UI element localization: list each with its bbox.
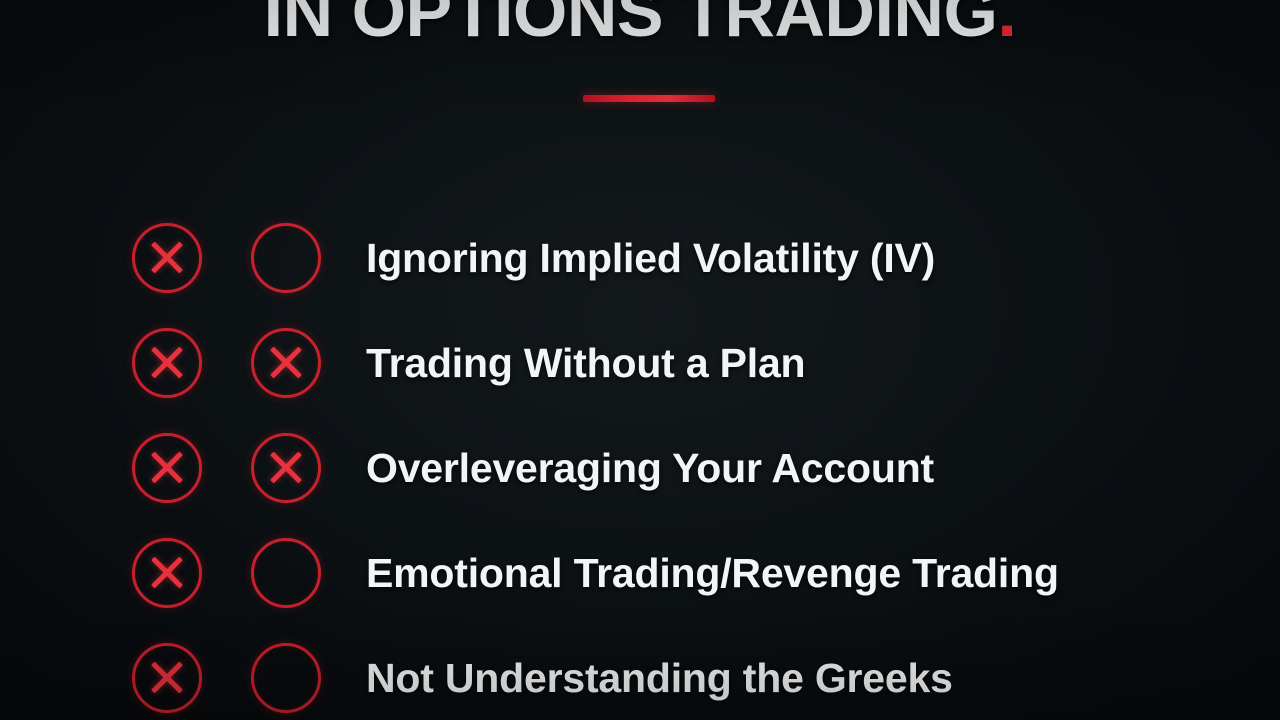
x-circle-icon [132, 538, 202, 608]
title-block: IN OPTIONS TRADING. [0, 0, 1280, 50]
list-item-label: Not Understanding the Greeks [366, 654, 953, 702]
list-item: Overleveraging Your Account [0, 415, 1280, 520]
empty-circle-icon [251, 223, 321, 293]
list-item: Not Understanding the Greeks [0, 625, 1280, 720]
x-glyph [135, 436, 199, 500]
list-item: Trading Without a Plan [0, 310, 1280, 415]
marker-column-secondary [250, 643, 322, 713]
slide-canvas: IN OPTIONS TRADING. Ignoring Implied Vol… [0, 0, 1280, 720]
marker-column-primary [131, 538, 203, 608]
page-title-text: IN OPTIONS TRADING [264, 0, 998, 51]
list-item: Emotional Trading/Revenge Trading [0, 520, 1280, 625]
marker-column-primary [131, 433, 203, 503]
x-glyph [135, 646, 199, 710]
x-glyph [254, 331, 318, 395]
x-circle-icon [132, 328, 202, 398]
x-circle-icon [132, 223, 202, 293]
list-item: Ignoring Implied Volatility (IV) [0, 205, 1280, 310]
x-circle-icon [251, 433, 321, 503]
title-underline-bar [583, 95, 715, 102]
marker-column-primary [131, 328, 203, 398]
x-circle-icon [132, 433, 202, 503]
list-item-label: Emotional Trading/Revenge Trading [366, 549, 1059, 597]
x-circle-icon [251, 328, 321, 398]
marker-column-secondary [250, 328, 322, 398]
x-glyph [135, 226, 199, 290]
list-item-label: Overleveraging Your Account [366, 444, 934, 492]
marker-column-secondary [250, 433, 322, 503]
empty-circle-icon [251, 538, 321, 608]
page-title-accent-dot: . [997, 0, 1016, 51]
list-item-label: Ignoring Implied Volatility (IV) [366, 234, 935, 282]
marker-column-secondary [250, 223, 322, 293]
empty-circle-icon [251, 643, 321, 713]
page-title: IN OPTIONS TRADING. [264, 0, 1017, 50]
marker-column-primary [131, 223, 203, 293]
x-glyph [135, 331, 199, 395]
marker-column-primary [131, 643, 203, 713]
mistakes-list: Ignoring Implied Volatility (IV) Trading… [0, 205, 1280, 720]
list-item-label: Trading Without a Plan [366, 339, 805, 387]
x-circle-icon [132, 643, 202, 713]
x-glyph [135, 541, 199, 605]
marker-column-secondary [250, 538, 322, 608]
x-glyph [254, 436, 318, 500]
